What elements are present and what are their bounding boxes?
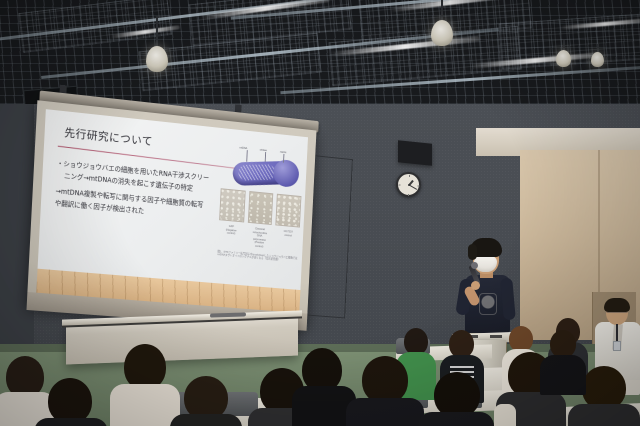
id-badge xyxy=(613,341,621,351)
list-item xyxy=(112,344,178,426)
lectern-slot xyxy=(490,335,502,338)
mitochondrion-cristae-texture xyxy=(238,164,276,180)
pendant-light-bulb xyxy=(556,50,571,67)
diagram-leader-line xyxy=(246,150,248,162)
micrograph-panel xyxy=(219,188,245,222)
audience-shoulders xyxy=(346,398,424,426)
list-item xyxy=(170,376,242,426)
list-item xyxy=(346,356,424,426)
wall-speaker xyxy=(398,140,432,166)
microphone-head-icon xyxy=(471,262,478,269)
audience-sleeve xyxy=(494,404,516,426)
clock-tick xyxy=(408,194,409,196)
pendant-light-bulb xyxy=(146,46,168,72)
left-wall-return xyxy=(0,104,34,354)
audience-head xyxy=(404,328,428,355)
clock-tick xyxy=(409,175,410,177)
audience-head xyxy=(362,356,408,404)
pendant-light-rod xyxy=(156,16,158,48)
micrograph-caption: CG7337 control xyxy=(275,229,301,252)
micrograph-panel xyxy=(276,194,302,228)
audience-head xyxy=(449,330,474,358)
staff-hair xyxy=(604,298,630,312)
screen-surface: 先行研究について ・ショウジョウバエの細胞を用いたRNA干渉スクリー ニング→m… xyxy=(27,100,317,327)
projection-screen: 先行研究について ・ショウジョウバエの細胞を用いたRNA干渉スクリー ニング→m… xyxy=(26,96,318,333)
audience-head xyxy=(550,330,576,358)
pendant-light-bulb xyxy=(591,52,604,67)
slide-body-text: ・ショウジョウバエの細胞を用いたRNA干渉スクリー ニング→mtDNAの消失を起… xyxy=(54,158,227,229)
presenter-shirt-graphic xyxy=(479,293,497,315)
slide-title: 先行研究について xyxy=(64,124,153,149)
clock-center-pin xyxy=(408,184,410,186)
audience-shoulders xyxy=(568,404,640,426)
lecture-hall-photo: 先行研究について ・ショウジョウバエの細胞を用いたRNA干渉スクリー ニング→m… xyxy=(0,0,640,426)
whiteboard-frame-edge xyxy=(307,155,353,318)
pendant-light-bulb xyxy=(431,20,453,46)
lanyard xyxy=(616,324,618,342)
wall-clock xyxy=(396,172,421,197)
micrograph-panel xyxy=(248,191,274,225)
audience-shoulders xyxy=(540,355,586,395)
diagram-label: matrix xyxy=(280,151,287,155)
audience-shoulders xyxy=(170,414,242,426)
presentation-slide: 先行研究について ・ショウジョウバエの細胞を用いたRNA干渉スクリー ニング→m… xyxy=(38,109,308,290)
audience-shoulders xyxy=(418,412,494,426)
figure-source-caption: 図1．RTSファミリー転写因子をknockdownしたショウジョウバエ細胞ではm… xyxy=(217,250,302,264)
micrograph-caption: GFP (Negative control) xyxy=(218,224,244,247)
list-item xyxy=(418,372,494,426)
pendant-light-rod xyxy=(441,0,443,22)
diagram-label: cristae xyxy=(260,149,267,153)
list-item xyxy=(34,378,108,426)
list-item xyxy=(540,330,586,386)
micrograph-caption: Classical mitochondria DNA polymerase (P… xyxy=(247,227,273,250)
presenter-hand xyxy=(471,281,480,290)
clock-tick xyxy=(398,185,400,186)
diagram-label: mtDNA xyxy=(239,146,247,150)
presenter-hair-side xyxy=(468,244,477,260)
diagram-leader-line xyxy=(265,152,266,162)
presenter-right-arm xyxy=(500,278,516,321)
audience-shoulders xyxy=(34,418,108,426)
mitochondrion-illustration: mtDNA cristae matrix xyxy=(230,149,300,192)
clock-tick xyxy=(417,186,419,187)
